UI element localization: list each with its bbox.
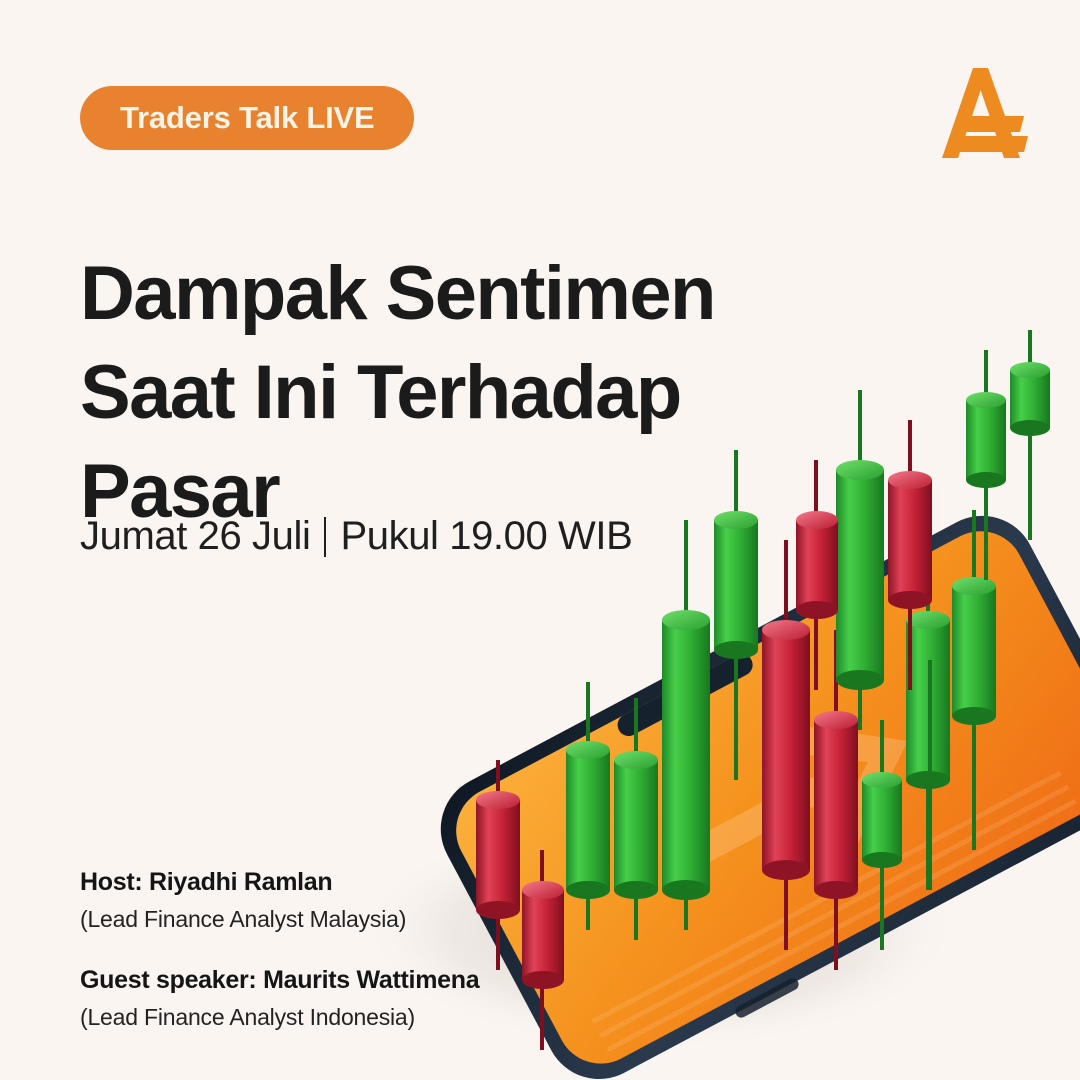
headline-line-1: Dampak Sentimen bbox=[80, 245, 840, 344]
live-badge[interactable]: Traders Talk LIVE bbox=[80, 86, 414, 150]
guest-speaker-role: (Lead Finance Analyst Indonesia) bbox=[80, 1001, 600, 1034]
event-date: Jumat 26 Juli bbox=[80, 514, 310, 559]
guest-speaker-name: Guest speaker: Maurits Wattimena bbox=[80, 964, 600, 998]
brand-logo bbox=[928, 58, 1038, 168]
candle-bullish bbox=[836, 390, 884, 730]
host-role: (Lead Finance Analyst Malaysia) bbox=[80, 903, 600, 936]
speakers-block: Host: Riyadhi Ramlan (Lead Finance Analy… bbox=[80, 866, 600, 1034]
promo-poster: Traders Talk LIVE Dampak Sentimen Saat I… bbox=[0, 0, 1080, 1080]
live-badge-label: Traders Talk LIVE bbox=[120, 100, 374, 136]
host-entry: Host: Riyadhi Ramlan (Lead Finance Analy… bbox=[80, 866, 600, 936]
schedule-divider bbox=[324, 517, 326, 557]
guest-speaker-entry: Guest speaker: Maurits Wattimena (Lead F… bbox=[80, 964, 600, 1034]
a-monogram-logo bbox=[928, 58, 1038, 168]
candle-bullish bbox=[1010, 330, 1050, 540]
host-name: Host: Riyadhi Ramlan bbox=[80, 866, 600, 900]
candle-bullish bbox=[662, 520, 710, 930]
